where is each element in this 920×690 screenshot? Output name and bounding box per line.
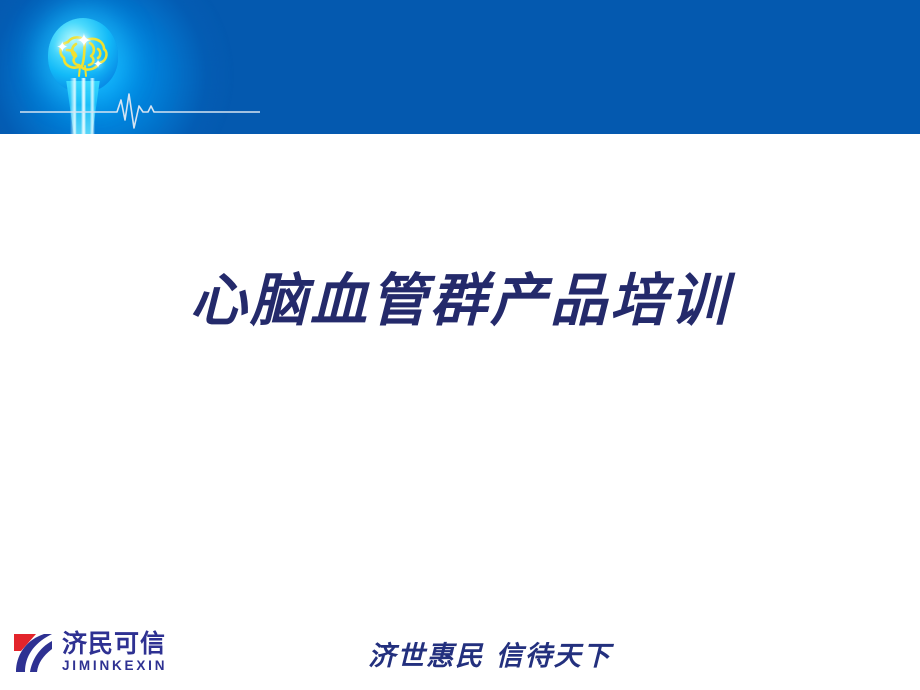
- ecg-heartbeat-line-icon: [20, 92, 260, 132]
- jiminkexin-logo-mark: [10, 631, 56, 675]
- sparkle-icon: ✦: [76, 32, 92, 51]
- page-title: 心脑血管群产品培训: [0, 255, 920, 337]
- sparkle-icon: ✦: [93, 58, 103, 70]
- logo-chinese-name: 济民可信: [62, 631, 167, 656]
- company-logo: 济民可信 JIMINKEXIN: [10, 628, 210, 678]
- company-slogan: 济世惠民 信待天下: [355, 634, 625, 673]
- logo-english-name: JIMINKEXIN: [62, 658, 167, 675]
- presentation-slide: ✦ ✦ ✦ 心脑血管群产品培训 济民可信 JIMINKEXIN 济世惠民 信待天…: [0, 0, 920, 690]
- logo-wordmark: 济民可信 JIMINKEXIN: [62, 631, 167, 675]
- title-banner: ✦ ✦ ✦: [0, 0, 920, 134]
- sparkle-icon: ✦: [56, 40, 69, 55]
